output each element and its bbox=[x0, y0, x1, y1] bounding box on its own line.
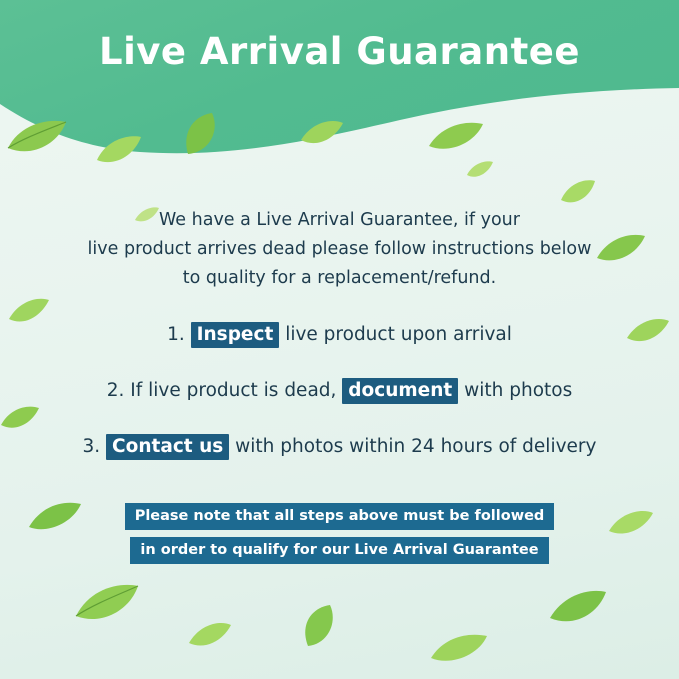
intro-line-3: to quality for a replacement/refund. bbox=[50, 264, 629, 293]
note-line-2-wrapper: in order to qualify for our Live Arrival… bbox=[0, 537, 679, 564]
step-2-after: with photos bbox=[464, 380, 572, 401]
step-3-after: with photos within 24 hours of delivery bbox=[235, 436, 596, 457]
step-item-3: 3. Contact us with photos within 24 hour… bbox=[0, 436, 679, 457]
step-2-before: If live product is dead, bbox=[130, 380, 336, 401]
step-item-1: 1. Inspect live product upon arrival bbox=[0, 324, 679, 345]
note-line-1: Please note that all steps above must be… bbox=[125, 503, 555, 530]
intro-paragraph: We have a Live Arrival Guarantee, if you… bbox=[50, 206, 629, 293]
step-3-highlight: Contact us bbox=[106, 434, 229, 460]
note-line-2: in order to qualify for our Live Arrival… bbox=[130, 537, 548, 564]
note-line-1-wrapper: Please note that all steps above must be… bbox=[0, 503, 679, 530]
page-title: Live Arrival Guarantee bbox=[0, 30, 679, 73]
step-1-after: live product upon arrival bbox=[285, 324, 512, 345]
step-1-number: 1. bbox=[167, 324, 185, 345]
step-2-number: 2. bbox=[107, 380, 125, 401]
intro-line-2: live product arrives dead please follow … bbox=[50, 235, 629, 264]
content-layer: Live Arrival Guarantee We have a Live Ar… bbox=[0, 0, 679, 679]
step-item-2: 2. If live product is dead, document wit… bbox=[0, 380, 679, 401]
step-3-number: 3. bbox=[83, 436, 101, 457]
intro-line-1: We have a Live Arrival Guarantee, if you… bbox=[50, 206, 629, 235]
step-1-highlight: Inspect bbox=[191, 322, 280, 348]
step-2-highlight: document bbox=[342, 378, 458, 404]
live-arrival-guarantee-page: Live Arrival Guarantee We have a Live Ar… bbox=[0, 0, 679, 679]
